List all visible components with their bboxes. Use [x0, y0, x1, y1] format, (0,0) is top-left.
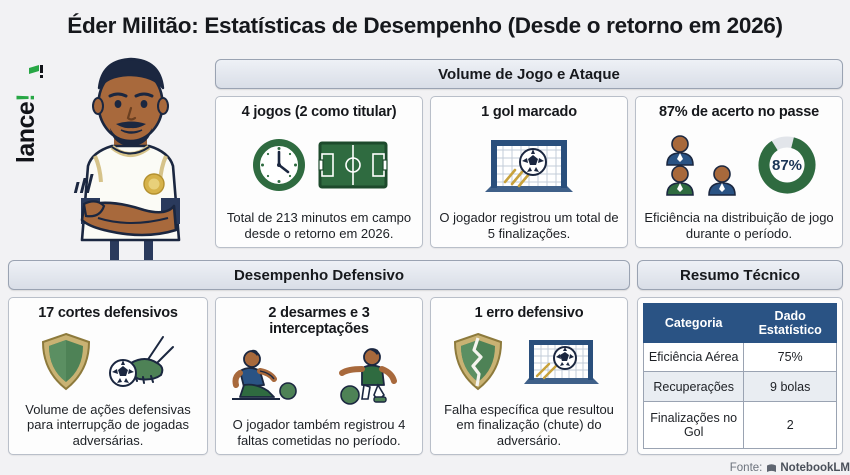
section-header-volume: Volume de Jogo e Ataque — [215, 59, 843, 89]
card-passe-icons: 87% — [644, 120, 834, 210]
table-cell-categoria: Recuperações — [644, 372, 744, 401]
card-desarmes-title: 2 desarmes e 3 interceptações — [224, 305, 414, 338]
table-row: Finalizações no Gol 2 — [644, 401, 837, 448]
lance-mark-icon — [28, 64, 44, 82]
table-row: Eficiência Aérea 75% — [644, 343, 837, 372]
card-jogos: 4 jogos (2 como titular) — [215, 96, 423, 248]
section-header-resumo-label: Resumo Técnico — [680, 267, 800, 284]
card-desarmes-icons — [224, 338, 414, 418]
table-row: Recuperações 9 bolas — [644, 372, 837, 401]
section-header-defensivo: Desempenho Defensivo — [8, 260, 630, 290]
table-cell-dado: 9 bolas — [744, 372, 837, 401]
card-gol-icons — [439, 120, 619, 210]
broken-shield-icon — [451, 331, 505, 393]
card-desarmes: 2 desarmes e 3 interceptações — [215, 297, 423, 455]
card-erro-desc: Falha específica que resultou em finaliz… — [439, 402, 619, 448]
clock-icon — [250, 136, 308, 194]
card-jogos-title: 4 jogos (2 como titular) — [242, 104, 397, 120]
lance-word: lance — [12, 102, 40, 163]
goal-net-icon — [515, 332, 607, 392]
card-erro-icons — [439, 321, 619, 402]
soccer-pitch-icon — [318, 139, 388, 191]
table-header-dado: Dado Estatístico — [744, 304, 837, 343]
resumo-tecnico-table: Categoria Dado Estatístico Eficiência Aé… — [643, 303, 837, 449]
running-player-icon — [332, 347, 412, 409]
player-illustration — [48, 48, 213, 278]
goal-net-icon — [475, 132, 583, 198]
page-title: Éder Militão: Estatísticas de Desempenho… — [0, 13, 850, 39]
notebooklm-label: NotebookLM — [780, 462, 850, 474]
card-gol-desc: O jogador registrou um total de 5 finali… — [439, 210, 619, 241]
notebooklm-badge: NotebookLM — [766, 462, 850, 474]
donut-value-label: 87% — [772, 157, 802, 174]
cleat-kick-icon — [103, 331, 177, 393]
resumo-tecnico-table-wrap: Categoria Dado Estatístico Eficiência Aé… — [637, 297, 843, 455]
card-gol: 1 gol marcado — [430, 96, 628, 248]
card-cortes-title: 17 cortes defensivos — [38, 305, 177, 321]
card-jogos-desc: Total de 213 minutos em campo desde o re… — [224, 210, 414, 241]
card-cortes-desc: Volume de ações defensivas para interrup… — [17, 402, 199, 448]
footer-label: Fonte: — [730, 462, 763, 474]
table-header-row: Categoria Dado Estatístico — [644, 304, 837, 343]
table-cell-dado: 2 — [744, 401, 837, 448]
card-cortes: 17 cortes defensivos — [8, 297, 208, 455]
card-cortes-icons — [17, 321, 199, 402]
donut-chart-icon: 87% — [756, 134, 818, 196]
shield-icon — [39, 331, 93, 393]
table-header-categoria: Categoria — [644, 304, 744, 343]
footer-source: Fonte: NotebookLM — [730, 462, 850, 474]
table-cell-dado: 75% — [744, 343, 837, 372]
lance-logo-text: lance! — [12, 94, 41, 163]
card-passe-desc: Eficiência na distribuição de jogo duran… — [644, 210, 834, 241]
card-passe-title: 87% de acerto no passe — [659, 104, 819, 120]
card-desarmes-desc: O jogador também registrou 4 faltas come… — [224, 417, 414, 448]
card-erro: 1 erro defensivo — [430, 297, 628, 455]
section-header-defensivo-label: Desempenho Defensivo — [234, 267, 404, 284]
card-erro-title: 1 erro defensivo — [475, 305, 584, 321]
lance-exclamation: ! — [12, 94, 40, 102]
card-gol-title: 1 gol marcado — [481, 104, 577, 120]
table-cell-categoria: Finalizações no Gol — [644, 401, 744, 448]
section-header-volume-label: Volume de Jogo e Ataque — [438, 66, 620, 83]
card-jogos-icons — [224, 120, 414, 210]
notebooklm-icon — [766, 463, 777, 474]
sliding-tackle-icon — [226, 347, 322, 409]
infographic-page: Éder Militão: Estatísticas de Desempenho… — [0, 0, 850, 475]
card-passe: 87% de acerto no passe — [635, 96, 843, 248]
people-icon — [660, 133, 746, 197]
section-header-resumo: Resumo Técnico — [637, 260, 843, 290]
table-cell-categoria: Eficiência Aérea — [644, 343, 744, 372]
